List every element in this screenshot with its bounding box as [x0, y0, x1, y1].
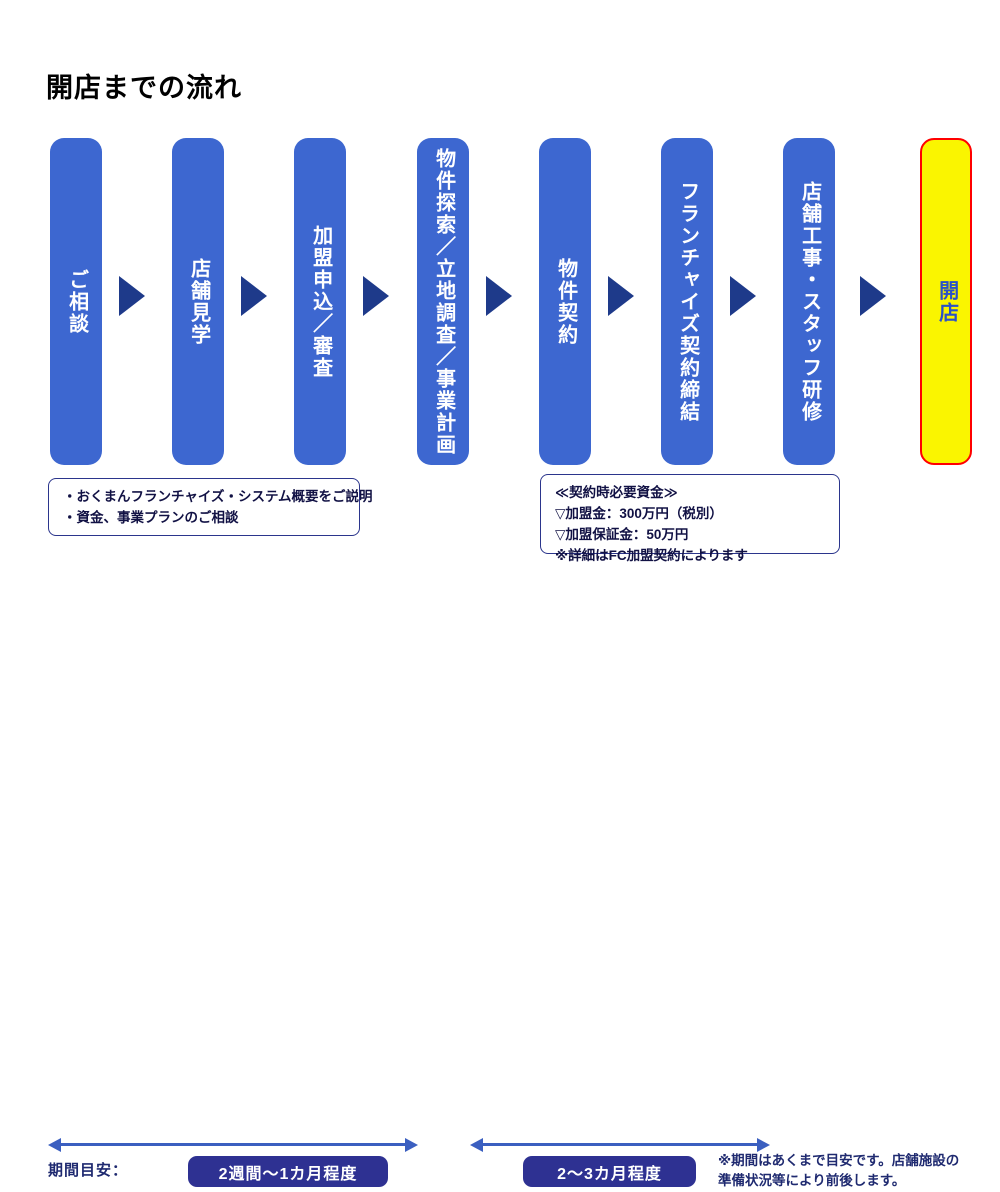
- flow-step-label: 店舗見学: [187, 258, 208, 346]
- flow-step-franchise-agreement[interactable]: フランチャイズ契約締結: [661, 138, 713, 465]
- timeline-footnote: ※期間はあくまで目安です。店舗施設の 準備状況等により前後します。: [718, 1151, 959, 1192]
- flow-arrow-right-icon: [363, 276, 389, 316]
- flow-arrow-right-icon: [730, 276, 756, 316]
- flow-step-label: フランチャイズ契約締結: [676, 181, 697, 423]
- flow-arrow-right-icon: [608, 276, 634, 316]
- page-title: 開店までの流れ: [46, 66, 242, 105]
- flow-step-opening[interactable]: 開店: [920, 138, 972, 465]
- flow-step-property-survey-plan[interactable]: 物件探索／立地調査／事業計画: [417, 138, 469, 465]
- note-line: ※詳細はFC加盟契約によります: [555, 546, 827, 567]
- period-badge-phase-2: 2〜3カ月程度: [523, 1156, 696, 1187]
- flow-step-label: ご相談: [65, 269, 86, 335]
- note-line: ≪契約時必要資金≫: [555, 483, 827, 504]
- flow-arrow-right-icon: [119, 276, 145, 316]
- note-line: ・おくまんフランチャイズ・システム概要をご説明: [63, 487, 347, 508]
- flow-arrow-right-icon: [860, 276, 886, 316]
- timeline-section: 期間目安： 2週間〜1カ月程度 2〜3カ月程度 ※期間はあくまで目安です。店舗施…: [0, 566, 1000, 658]
- note-box-consultation: ・おくまんフランチャイズ・システム概要をご説明 ・資金、事業プランのご相談: [48, 478, 360, 536]
- flow-step-construction-training[interactable]: 店舗工事・スタッフ研修: [783, 138, 835, 465]
- flow-step-label: 加盟申込／審査: [309, 225, 330, 379]
- note-box-required-funds: ≪契約時必要資金≫ ▽加盟金：300万円（税別） ▽加盟保証金：50万円 ※詳細…: [540, 474, 840, 554]
- flow-step-consultation[interactable]: ご相談: [50, 138, 102, 465]
- arrow-left-icon: [470, 1138, 483, 1152]
- flow-step-store-visit[interactable]: 店舗見学: [172, 138, 224, 465]
- arrow-right-icon: [757, 1138, 770, 1152]
- period-estimate-label: 期間目安：: [48, 1159, 128, 1180]
- footnote-line: 準備状況等により前後します。: [718, 1171, 959, 1191]
- timeline-range-line: [482, 1143, 758, 1146]
- flow-step-property-contract[interactable]: 物件契約: [539, 138, 591, 465]
- flow-step-label: 物件探索／立地調査／事業計画: [432, 148, 453, 456]
- note-line: ▽加盟金：300万円（税別）: [555, 504, 827, 525]
- flow-step-label: 店舗工事・スタッフ研修: [798, 181, 819, 423]
- flow-step-label: 物件契約: [554, 258, 575, 346]
- flow-arrow-right-icon: [241, 276, 267, 316]
- footnote-line: ※期間はあくまで目安です。店舗施設の: [718, 1151, 959, 1171]
- arrow-left-icon: [48, 1138, 61, 1152]
- period-badge-phase-1: 2週間〜1カ月程度: [188, 1156, 388, 1187]
- flow-step-label: 開店: [935, 280, 956, 324]
- note-line: ▽加盟保証金：50万円: [555, 525, 827, 546]
- arrow-right-icon: [405, 1138, 418, 1152]
- timeline-range-line: [60, 1143, 406, 1146]
- process-flow-row: ご相談 店舗見学 加盟申込／審査 物件探索／立地調査／事業計画 物件契約 フラン…: [0, 138, 1000, 466]
- flow-arrow-right-icon: [486, 276, 512, 316]
- flow-step-application-screening[interactable]: 加盟申込／審査: [294, 138, 346, 465]
- note-line: ・資金、事業プランのご相談: [63, 508, 347, 529]
